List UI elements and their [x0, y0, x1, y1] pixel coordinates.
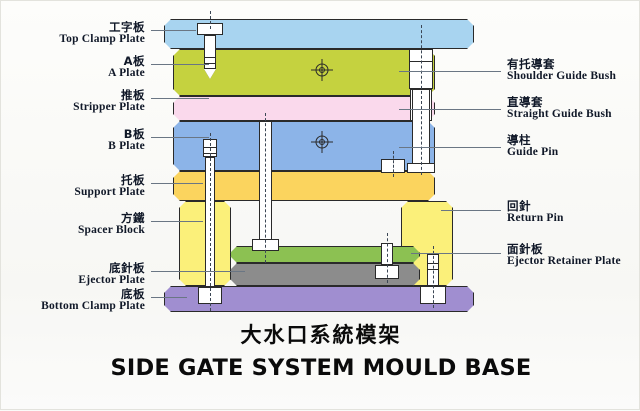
label-a-plate-cn: A板	[108, 56, 145, 68]
label-spacer-block-cn: 方鐵	[78, 213, 145, 225]
label-straight-guide-bush: 直導套 Straight Guide Bush	[507, 97, 612, 120]
label-top-clamp-plate-cn: 工字板	[59, 22, 145, 34]
leader-ejector-plate	[151, 271, 245, 272]
label-guide-pin-cn: 導柱	[507, 135, 558, 147]
label-b-plate-en: B Plate	[108, 141, 145, 153]
label-ejector-retainer-plate: 面針板 Ejector Retainer Plate	[507, 244, 621, 267]
label-top-clamp-plate-en: Top Clamp Plate	[59, 34, 145, 46]
label-bottom-clamp-plate-cn: 底板	[41, 289, 145, 301]
leader-a-plate	[151, 64, 209, 65]
label-shoulder-guide-bush-cn: 有托導套	[507, 59, 616, 71]
label-a-plate-en: A Plate	[108, 68, 145, 80]
label-bottom-clamp-plate-en: Bottom Clamp Plate	[41, 301, 145, 313]
leader-stripper-plate	[151, 98, 209, 99]
leader-ejector-retainer-plate	[411, 253, 501, 254]
leader-top-clamp-plate	[151, 30, 196, 31]
ejector-pin-centreline	[210, 133, 211, 311]
label-shoulder-guide-bush: 有托導套 Shoulder Guide Bush	[507, 59, 616, 82]
label-ejector-plate-cn: 底針板	[78, 263, 145, 275]
leader-return-pin	[441, 210, 501, 211]
label-spacer-block-en: Spacer Block	[78, 225, 145, 237]
label-ejector-retainer-plate-en: Ejector Retainer Plate	[507, 256, 621, 268]
leader-shoulder-guide-bush	[399, 71, 501, 72]
label-support-plate-en: Support Plate	[74, 187, 145, 199]
b-plate-screw-centreline	[393, 151, 394, 177]
label-ejector-plate-en: Ejector Plate	[78, 275, 145, 287]
leader-spacer-block	[151, 221, 203, 222]
leader-support-plate	[151, 183, 203, 184]
label-support-plate: 托板 Support Plate	[74, 175, 145, 198]
leader-bottom-clamp-plate	[151, 297, 187, 298]
leader-guide-pin	[399, 147, 501, 148]
title-chinese: 大水口系統模架	[1, 319, 640, 349]
label-guide-pin: 導柱 Guide Pin	[507, 135, 558, 158]
title-block: 大水口系統模架 SIDE GATE SYSTEM MOULD BASE	[1, 319, 640, 381]
title-english: SIDE GATE SYSTEM MOULD BASE	[1, 355, 640, 381]
label-ejector-plate: 底針板 Ejector Plate	[78, 263, 145, 286]
cap-screw-thread-1	[204, 57, 216, 58]
guide-pin-centreline	[421, 25, 422, 175]
label-stripper-plate-en: Stripper Plate	[73, 102, 145, 114]
leader-straight-guide-bush	[399, 109, 501, 110]
label-b-plate: B板 B Plate	[108, 129, 145, 152]
label-return-pin-en: Return Pin	[507, 213, 564, 225]
label-shoulder-guide-bush-en: Shoulder Guide Bush	[507, 71, 616, 83]
label-straight-guide-bush-en: Straight Guide Bush	[507, 109, 612, 121]
centre-mark-b-plate	[311, 131, 333, 153]
centre-mark-a-plate	[311, 59, 333, 81]
cap-screw-centreline	[210, 11, 211, 29]
label-return-pin: 回針 Return Pin	[507, 201, 564, 224]
label-straight-guide-bush-cn: 直導套	[507, 97, 612, 109]
label-return-pin-cn: 回針	[507, 201, 564, 213]
return-pin-centreline	[387, 233, 388, 283]
label-bottom-clamp-plate: 底板 Bottom Clamp Plate	[41, 289, 145, 312]
sprue-rod-centreline	[265, 113, 266, 263]
label-stripper-plate: 推板 Stripper Plate	[73, 90, 145, 113]
label-stripper-plate-cn: 推板	[73, 90, 145, 102]
cap-screw-point	[204, 69, 216, 79]
label-spacer-block: 方鐵 Spacer Block	[78, 213, 145, 236]
plate-stripper-plate	[173, 96, 435, 121]
label-top-clamp-plate: 工字板 Top Clamp Plate	[59, 22, 145, 45]
label-ejector-retainer-plate-cn: 面針板	[507, 244, 621, 256]
label-guide-pin-en: Guide Pin	[507, 147, 558, 159]
diagram-page: 工字板 Top Clamp Plate A板 A Plate 推板 Stripp…	[0, 0, 640, 410]
label-support-plate-cn: 托板	[74, 175, 145, 187]
label-a-plate: A板 A Plate	[108, 56, 145, 79]
label-b-plate-cn: B板	[108, 129, 145, 141]
bottom-clamp-screw-centreline	[433, 246, 434, 308]
leader-b-plate	[151, 137, 209, 138]
